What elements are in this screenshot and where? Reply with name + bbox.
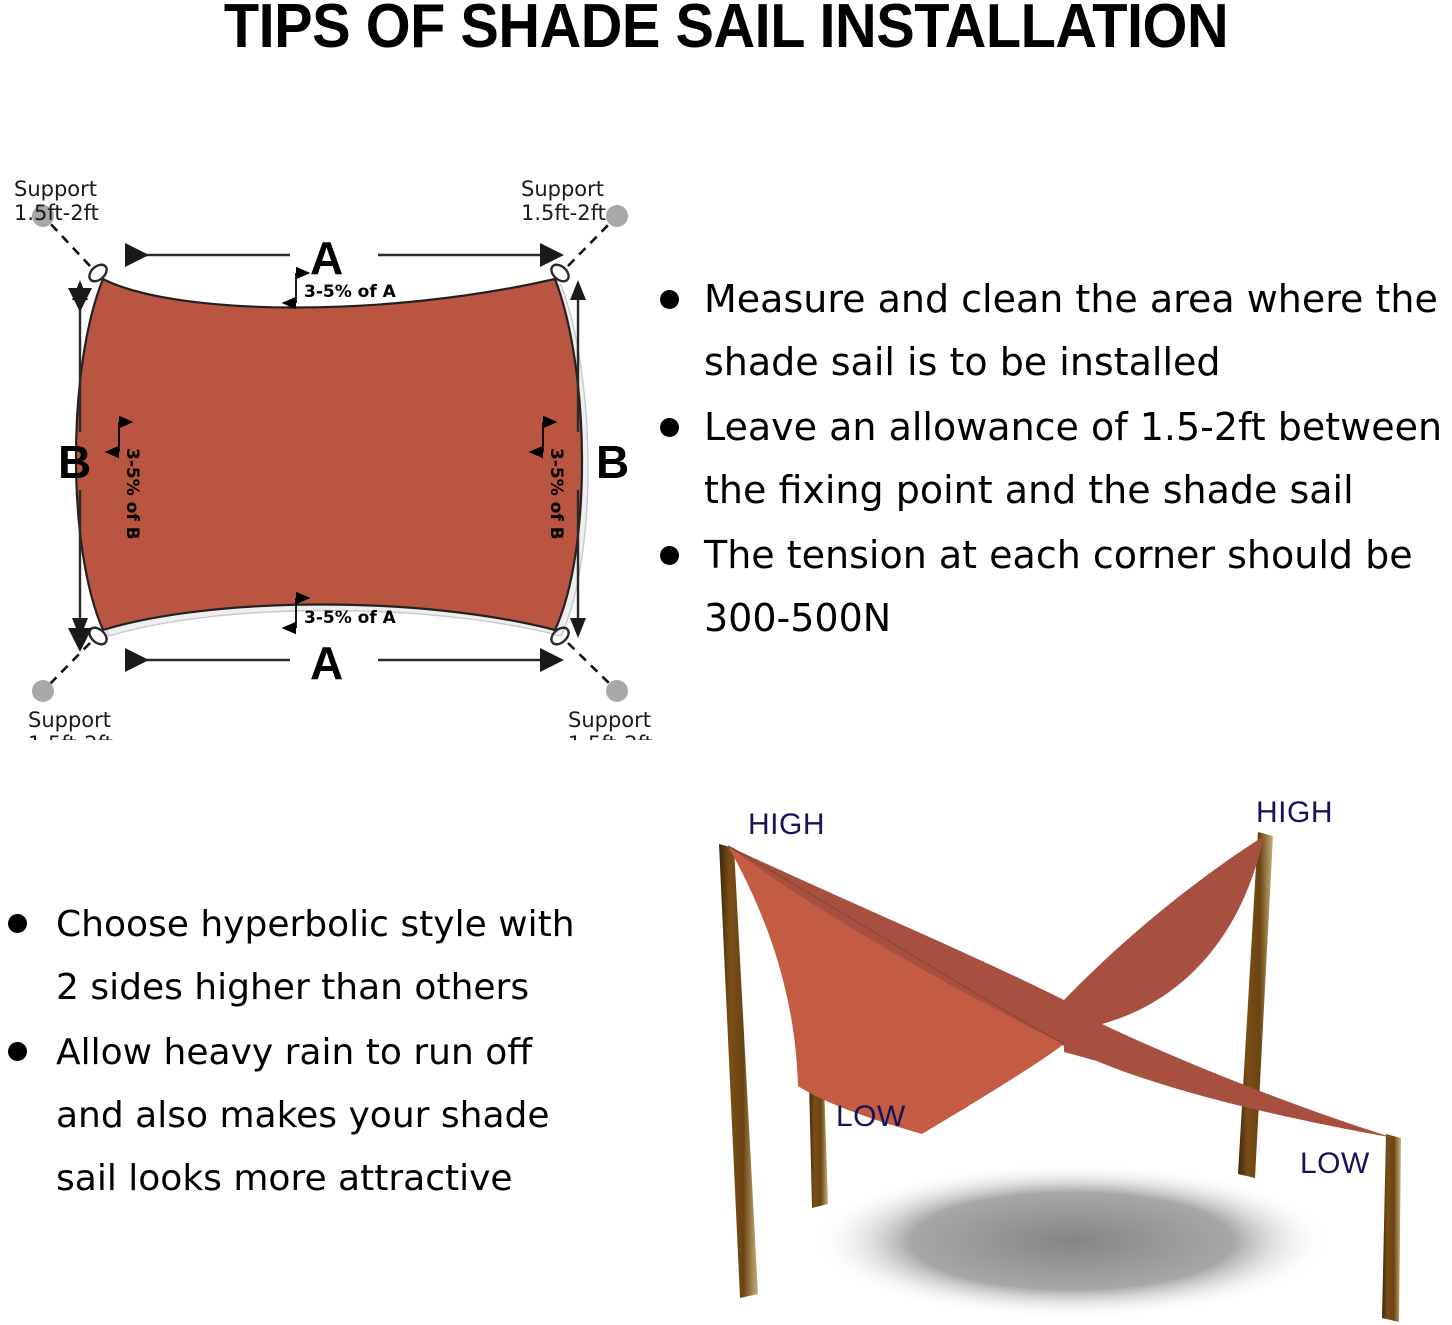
bullet-point-icon	[660, 546, 679, 565]
installation-tips-list: Measure and clean the area where the sha…	[648, 268, 1452, 652]
ground-shadow	[812, 1163, 1332, 1319]
support-label-bottom-right-line2: 1.5ft-2ft	[568, 732, 653, 740]
page-title: TIPS OF SHADE SAIL INSTALLATION	[51, 0, 1401, 59]
rectangular-sail-diagram: Support 1.5ft-2ft Support 1.5ft-2ft Supp…	[0, 160, 680, 740]
anchor-dot-bottom-left	[32, 680, 54, 702]
hyperbolic-sail-diagram: HIGH HIGH LOW LOW	[672, 786, 1452, 1325]
support-label-bottom-left: Support 1.5ft-2ft	[28, 708, 113, 740]
list-item: The tension at each corner should be 300…	[648, 524, 1452, 650]
tether-bottom-right	[568, 643, 613, 687]
label-high-right: HIGH	[1256, 796, 1333, 829]
list-item-line: and also makes your shade	[56, 1095, 550, 1136]
support-label-top-right: Support 1.5ft-2ft	[521, 177, 606, 225]
list-item-line: the fixing point and the shade sail	[704, 468, 1354, 512]
curvature-label-left: 3-5% of B	[122, 448, 142, 540]
list-item-line: The tension at each corner should be	[704, 533, 1413, 577]
hyperbolic-tips-list: Choose hyperbolic style with 2 sides hig…	[0, 893, 640, 1212]
list-item-line: Allow heavy rain to run off	[56, 1032, 532, 1073]
list-item: Choose hyperbolic style with 2 sides hig…	[0, 893, 640, 1019]
tether-top-left	[47, 220, 90, 266]
bullet-point-icon	[660, 418, 679, 437]
list-item-line: 2 sides higher than others	[56, 967, 529, 1008]
list-item: Allow heavy rain to run off and also mak…	[0, 1021, 640, 1210]
post-high-left	[719, 844, 758, 1298]
support-label-top-left-line2: 1.5ft-2ft	[14, 201, 99, 225]
sail-fabric-panel	[76, 279, 582, 630]
dimension-letter-A-top: A	[310, 232, 343, 284]
curvature-label-bottom: 3-5% of A	[304, 608, 397, 628]
anchor-dot-top-right	[606, 205, 628, 227]
list-item: Leave an allowance of 1.5-2ft between th…	[648, 396, 1452, 522]
list-item-line: Measure and clean the area where the	[704, 277, 1438, 321]
support-label-bottom-right-line1: Support	[568, 708, 651, 732]
label-low-right: LOW	[1300, 1147, 1370, 1180]
dimension-letter-A-bottom: A	[310, 637, 343, 689]
sail-lobe-low-left	[728, 846, 1064, 1102]
list-item-line: sail looks more attractive	[56, 1158, 513, 1199]
list-item-line: 300-500N	[704, 596, 891, 640]
tether-top-right	[568, 220, 613, 266]
bullet-point-icon	[8, 1042, 27, 1061]
curvature-label-top: 3-5% of A	[304, 282, 397, 302]
bullet-point-icon	[8, 914, 27, 933]
anchor-dot-bottom-right	[606, 680, 628, 702]
list-item-line: Leave an allowance of 1.5-2ft between	[704, 405, 1442, 449]
list-item-line: shade sail is to be installed	[704, 340, 1221, 384]
dimension-letter-B-left: B	[58, 436, 91, 488]
support-label-top-right-line1: Support	[521, 177, 604, 201]
support-label-bottom-left-line2: 1.5ft-2ft	[28, 732, 113, 740]
tether-bottom-left	[47, 643, 90, 687]
support-label-bottom-right: Support 1.5ft-2ft	[568, 708, 653, 740]
support-label-top-right-line2: 1.5ft-2ft	[521, 201, 606, 225]
label-low-left: LOW	[836, 1100, 906, 1133]
list-item-line: Choose hyperbolic style with	[56, 904, 575, 945]
support-label-bottom-left-line1: Support	[28, 708, 111, 732]
bullet-point-icon	[660, 290, 679, 309]
curvature-label-right: 3-5% of B	[546, 448, 566, 540]
dimension-letter-B-right: B	[596, 436, 629, 488]
support-label-top-left: Support 1.5ft-2ft	[14, 177, 99, 225]
label-high-left: HIGH	[748, 808, 825, 841]
list-item: Measure and clean the area where the sha…	[648, 268, 1452, 394]
support-label-top-left-line1: Support	[14, 177, 97, 201]
post-low-right	[1382, 1134, 1401, 1322]
